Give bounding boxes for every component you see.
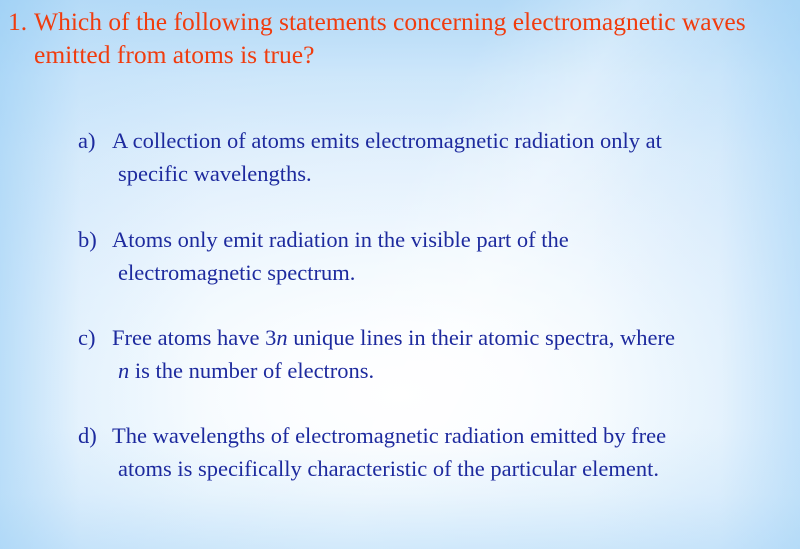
quiz-slide: 1. Which of the following statements con…: [0, 0, 800, 549]
option-a-line-1: A collection of atoms emits electromagne…: [112, 128, 662, 153]
option-b-line-1: Atoms only emit radiation in the visible…: [112, 227, 569, 252]
option-b-line-2: electromagnetic spectrum.: [112, 256, 792, 289]
option-text-c: Free atoms have 3n unique lines in their…: [112, 321, 800, 387]
question-text: Which of the following statements concer…: [34, 6, 790, 71]
slide-content: 1. Which of the following statements con…: [0, 0, 800, 549]
question-block: 1. Which of the following statements con…: [0, 6, 790, 71]
option-c-line-2-suffix: is the number of electrons.: [129, 358, 374, 383]
option-text-b: Atoms only emit radiation in the visible…: [112, 223, 800, 289]
option-text-a: A collection of atoms emits electromagne…: [112, 124, 800, 190]
option-c-variable-n-second: n: [118, 358, 129, 383]
option-d-line-1: The wavelengths of electromagnetic radia…: [112, 423, 666, 448]
option-a-line-2: specific wavelengths.: [112, 157, 792, 190]
option-c-line-1-suffix: unique lines in their atomic spectra, wh…: [288, 325, 675, 350]
option-label-b: b): [0, 223, 112, 256]
answer-option-c[interactable]: c) Free atoms have 3n unique lines in th…: [0, 321, 800, 387]
option-c-variable-n-first: n: [276, 325, 287, 350]
answer-option-a[interactable]: a) A collection of atoms emits electroma…: [0, 124, 800, 190]
option-c-line-2: n is the number of electrons.: [112, 354, 792, 387]
option-label-a: a): [0, 124, 112, 157]
option-label-c: c): [0, 321, 112, 354]
question-number: 1.: [0, 6, 34, 39]
answer-option-d[interactable]: d) The wavelengths of electromagnetic ra…: [0, 419, 800, 485]
option-c-line-1-prefix: Free atoms have 3: [112, 325, 276, 350]
option-text-d: The wavelengths of electromagnetic radia…: [112, 419, 800, 485]
answer-option-b[interactable]: b) Atoms only emit radiation in the visi…: [0, 223, 800, 289]
option-label-d: d): [0, 419, 112, 452]
option-d-line-2: atoms is specifically characteristic of …: [112, 452, 792, 485]
